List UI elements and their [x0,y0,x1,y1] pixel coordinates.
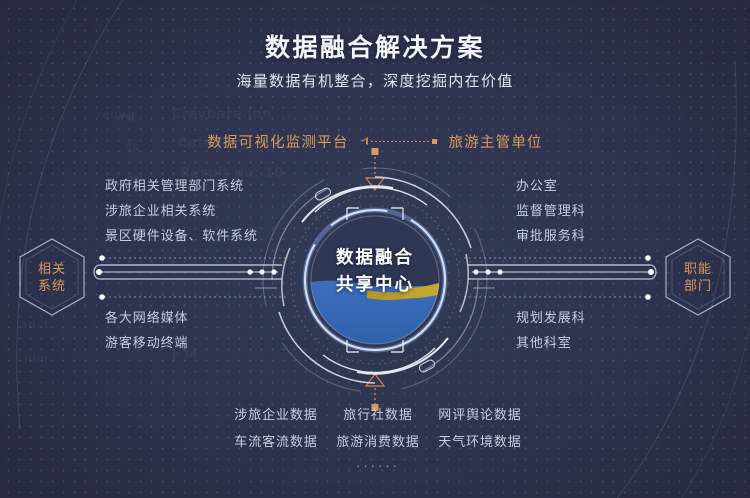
left-top-item-0[interactable]: 政府相关管理部门系统 [105,173,258,198]
central-hub[interactable]: 数据融合 共享中心 [255,160,495,400]
right-top-item-0[interactable]: 办公室 [516,173,586,198]
right-bottom-item-0[interactable]: 规划发展科 [516,305,586,330]
bottom-grid-cell-0-2[interactable]: 网评舆论数据 [432,404,528,423]
infographic-canvas: Craybara.jpnCategory: deResult du: 10rdt… [0,0,750,498]
left-top-item-1[interactable]: 涉旅企业相关系统 [105,198,258,223]
bottom-ellipsis: ······ [228,458,528,473]
hexagon-left-line1: 相关 [38,260,66,277]
bottom-grid-rows: 涉旅企业数据旅行社数据网评舆论数据车流客流数据旅游消费数据天气环境数据 [228,404,528,450]
hexagon-right-label: 职能 部门 [684,260,712,294]
core-label: 数据融合 共享中心 [255,244,495,298]
hexagon-left-line2: 系统 [38,277,66,294]
bottom-data-grid: 涉旅企业数据旅行社数据网评舆论数据车流客流数据旅游消费数据天气环境数据 ····… [228,404,528,473]
left-bottom-item-0[interactable]: 各大网络媒体 [105,305,188,330]
bottom-grid-row: 车流客流数据旅游消费数据天气环境数据 [228,431,528,450]
bottom-grid-cell-1-1[interactable]: 旅游消费数据 [330,431,426,450]
core-line2: 共享中心 [255,271,495,298]
bottom-grid-cell-0-1[interactable]: 旅行社数据 [330,404,426,423]
left-top-item-2[interactable]: 景区硬件设备、软件系统 [105,223,258,248]
right-top-list: 办公室监督管理科审批服务科 [516,173,586,248]
hexagon-right-line2: 部门 [684,277,712,294]
right-top-item-1[interactable]: 监督管理科 [516,198,586,223]
bottom-grid-row: 涉旅企业数据旅行社数据网评舆论数据 [228,404,528,423]
right-bottom-item-1[interactable]: 其他科室 [516,330,586,355]
core-line1: 数据融合 [255,244,495,271]
left-top-list: 政府相关管理部门系统涉旅企业相关系统景区硬件设备、软件系统 [105,173,258,248]
bottom-grid-cell-1-2[interactable]: 天气环境数据 [432,431,528,450]
right-top-item-2[interactable]: 审批服务科 [516,223,586,248]
right-bottom-list: 规划发展科其他科室 [516,305,586,355]
left-bottom-item-1[interactable]: 游客移动终端 [105,330,188,355]
hexagon-right-line1: 职能 [684,260,712,277]
hexagon-left-label: 相关 系统 [38,260,66,294]
bottom-grid-cell-1-0[interactable]: 车流客流数据 [228,431,324,450]
bottom-grid-cell-0-0[interactable]: 涉旅企业数据 [228,404,324,423]
left-bottom-list: 各大网络媒体游客移动终端 [105,305,188,355]
